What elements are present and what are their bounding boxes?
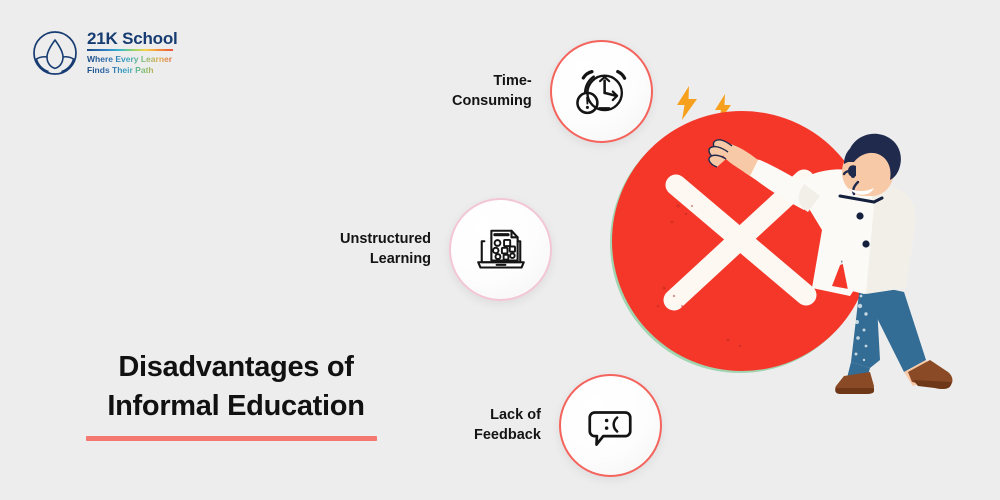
- infographic-canvas: 21K School Where Every Learner Finds The…: [0, 0, 1000, 500]
- page-title: Disadvantages of Informal Education: [86, 348, 386, 441]
- feature-label-line1: Unstructured: [340, 230, 431, 250]
- title-underline: [86, 436, 377, 441]
- feature-label-line2: Consuming: [452, 92, 532, 112]
- lotus-circle-icon: [32, 30, 78, 76]
- sad-speech-bubble-icon: [583, 399, 637, 453]
- laptop-scattered-document-icon: [473, 222, 529, 278]
- feature-label-time-consuming: Time- Consuming: [452, 72, 532, 111]
- logo-tagline-line2: Finds Their Path: [87, 65, 178, 76]
- man-pushing-red-x-circle-illustration: [608, 110, 1000, 400]
- feature-label-unstructured-learning: Unstructured Learning: [340, 230, 431, 269]
- brand-logo[interactable]: 21K School Where Every Learner Finds The…: [32, 30, 178, 76]
- logo-tagline: Where Every Learner Finds Their Path: [87, 54, 178, 76]
- feature-label-line1: Time-: [452, 72, 532, 92]
- page-title-line2: Informal Education: [86, 387, 386, 426]
- feature-label-lack-of-feedback: Lack of Feedback: [474, 406, 541, 445]
- feature-label-line2: Learning: [340, 250, 431, 270]
- logo-gradient-rule: [87, 49, 173, 51]
- feature-label-line2: Feedback: [474, 426, 541, 446]
- feature-item-unstructured-learning[interactable]: Unstructured Learning: [340, 198, 552, 301]
- feature-bubble-unstructured-learning[interactable]: [449, 198, 552, 301]
- feature-label-line1: Lack of: [474, 406, 541, 426]
- logo-name: 21K School: [87, 30, 178, 47]
- logo-text-block: 21K School Where Every Learner Finds The…: [87, 30, 178, 76]
- page-title-line1: Disadvantages of: [86, 348, 386, 387]
- logo-tagline-line1: Where Every Learner: [87, 54, 178, 65]
